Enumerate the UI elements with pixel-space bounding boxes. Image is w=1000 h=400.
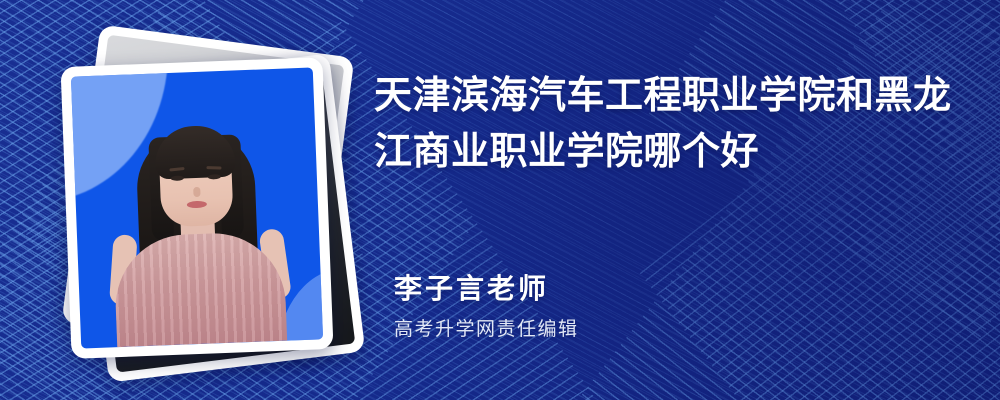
author-portrait-photo (71, 67, 323, 348)
portrait-eyebrow-right (206, 166, 221, 169)
photo-card-front (60, 57, 333, 359)
banner-text-content: 天津滨海汽车工程职业学院和黑龙江商业职业学院哪个好 李子言老师 高考升学网责任编… (374, 0, 974, 400)
portrait-nose (193, 187, 200, 197)
photo-card-stack (52, 42, 352, 362)
article-header-banner: 天津滨海汽车工程职业学院和黑龙江商业职业学院哪个好 李子言老师 高考升学网责任编… (0, 0, 1000, 400)
author-role: 高考升学网责任编辑 (394, 318, 579, 342)
portrait-hair-top (154, 125, 236, 180)
author-name: 李子言老师 (394, 272, 579, 306)
author-block: 李子言老师 高考升学网责任编辑 (394, 272, 579, 342)
portrait-illustration (71, 67, 323, 348)
article-title: 天津滨海汽车工程职业学院和黑龙江商业职业学院哪个好 (374, 68, 970, 180)
